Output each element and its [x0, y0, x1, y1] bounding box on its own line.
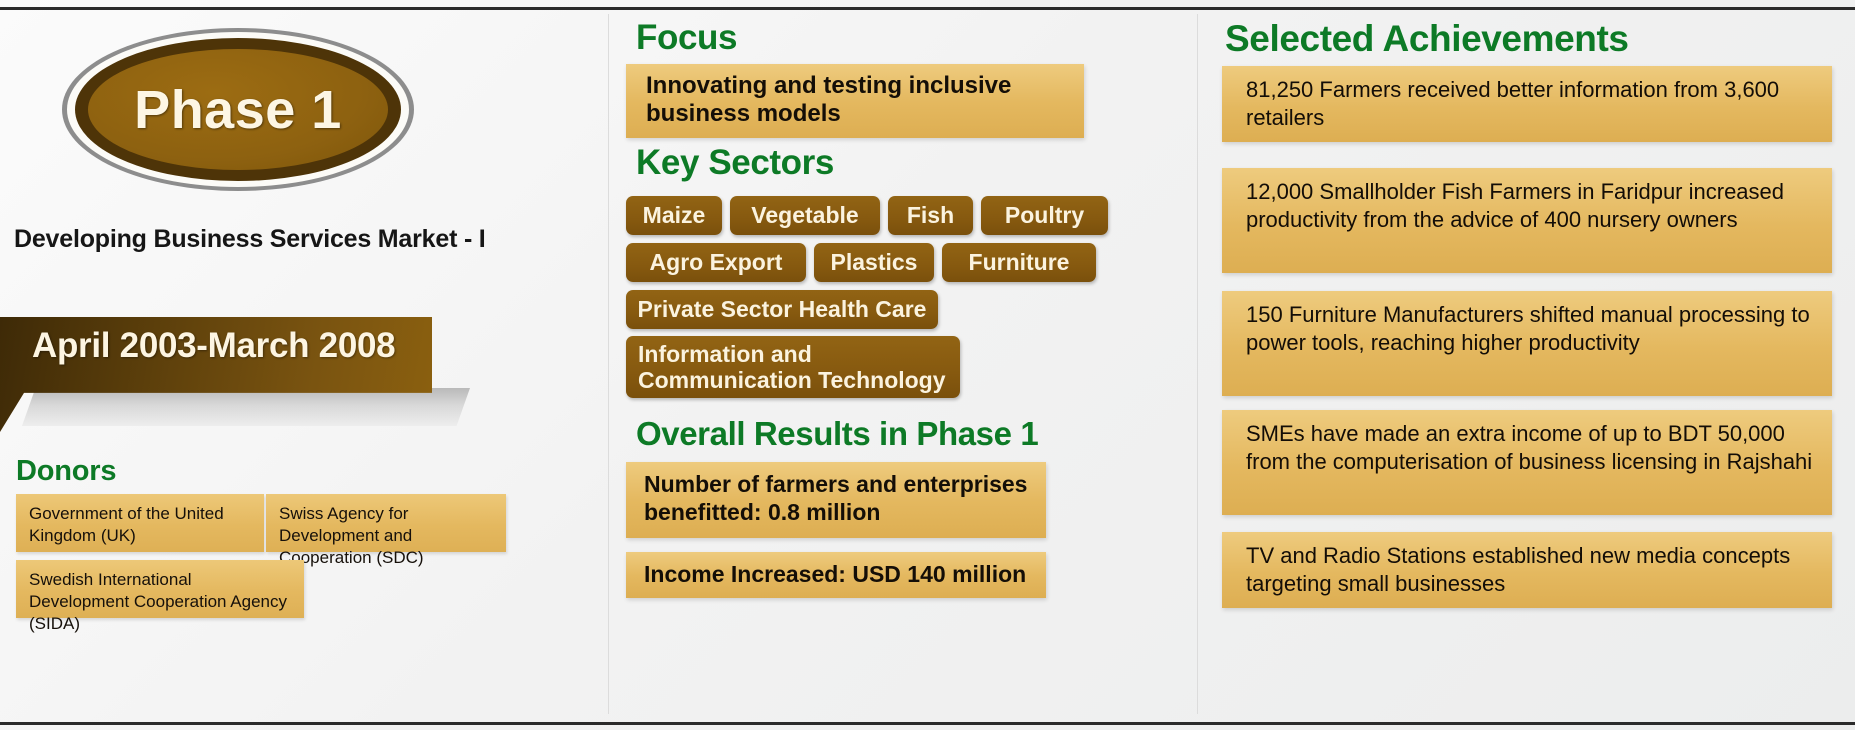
- phase-badge-label: Phase 1: [62, 28, 414, 191]
- middle-column: Focus Innovating and testing inclusive b…: [608, 10, 1197, 722]
- sector-pill: Poultry: [981, 196, 1108, 235]
- donor-item: Swiss Agency for Development and Coopera…: [266, 494, 506, 552]
- infographic-poster: Phase 1 Developing Business Services Mar…: [0, 0, 1855, 730]
- right-column: Selected Achievements 81,250 Farmers rec…: [1197, 10, 1855, 722]
- period-banner-label: April 2003-March 2008: [32, 326, 395, 366]
- sector-pill: Plastics: [814, 243, 934, 282]
- sector-pill: Agro Export: [626, 243, 806, 282]
- result-box: Number of farmers and enterprises benefi…: [626, 462, 1046, 538]
- period-ribbon: April 2003-March 2008: [0, 310, 470, 455]
- achievement-item: SMEs have made an extra income of up to …: [1222, 410, 1832, 515]
- ribbon-shadow-tail: [22, 388, 470, 426]
- focus-heading: Focus: [636, 18, 737, 58]
- program-subtitle: Developing Business Services Market - I: [14, 225, 594, 254]
- selected-achievements-heading: Selected Achievements: [1225, 18, 1629, 60]
- achievement-item: 150 Furniture Manufacturers shifted manu…: [1222, 291, 1832, 396]
- donor-item: Swedish International Development Cooper…: [16, 560, 304, 618]
- sector-pill: Furniture: [942, 243, 1096, 282]
- sector-pill: Vegetable: [730, 196, 880, 235]
- overall-results-heading: Overall Results in Phase 1: [636, 415, 1038, 453]
- achievement-item: TV and Radio Stations established new me…: [1222, 532, 1832, 608]
- donor-item: Government of the United Kingdom (UK): [16, 494, 264, 552]
- bottom-rule-divider: [0, 722, 1855, 725]
- achievement-item: 81,250 Farmers received better informati…: [1222, 66, 1832, 142]
- sector-pill: Fish: [888, 196, 973, 235]
- phase-badge: Phase 1: [62, 28, 414, 191]
- sector-pill: Information and Communication Technology: [626, 336, 960, 398]
- sector-pill: Private Sector Health Care: [626, 290, 938, 329]
- donors-heading: Donors: [16, 455, 116, 488]
- left-column: Phase 1 Developing Business Services Mar…: [0, 10, 608, 722]
- sector-pill: Maize: [626, 196, 722, 235]
- result-box: Income Increased: USD 140 million: [626, 552, 1046, 598]
- achievement-item: 12,000 Smallholder Fish Farmers in Farid…: [1222, 168, 1832, 273]
- focus-statement-box: Innovating and testing inclusive busines…: [626, 64, 1084, 138]
- key-sectors-heading: Key Sectors: [636, 143, 834, 183]
